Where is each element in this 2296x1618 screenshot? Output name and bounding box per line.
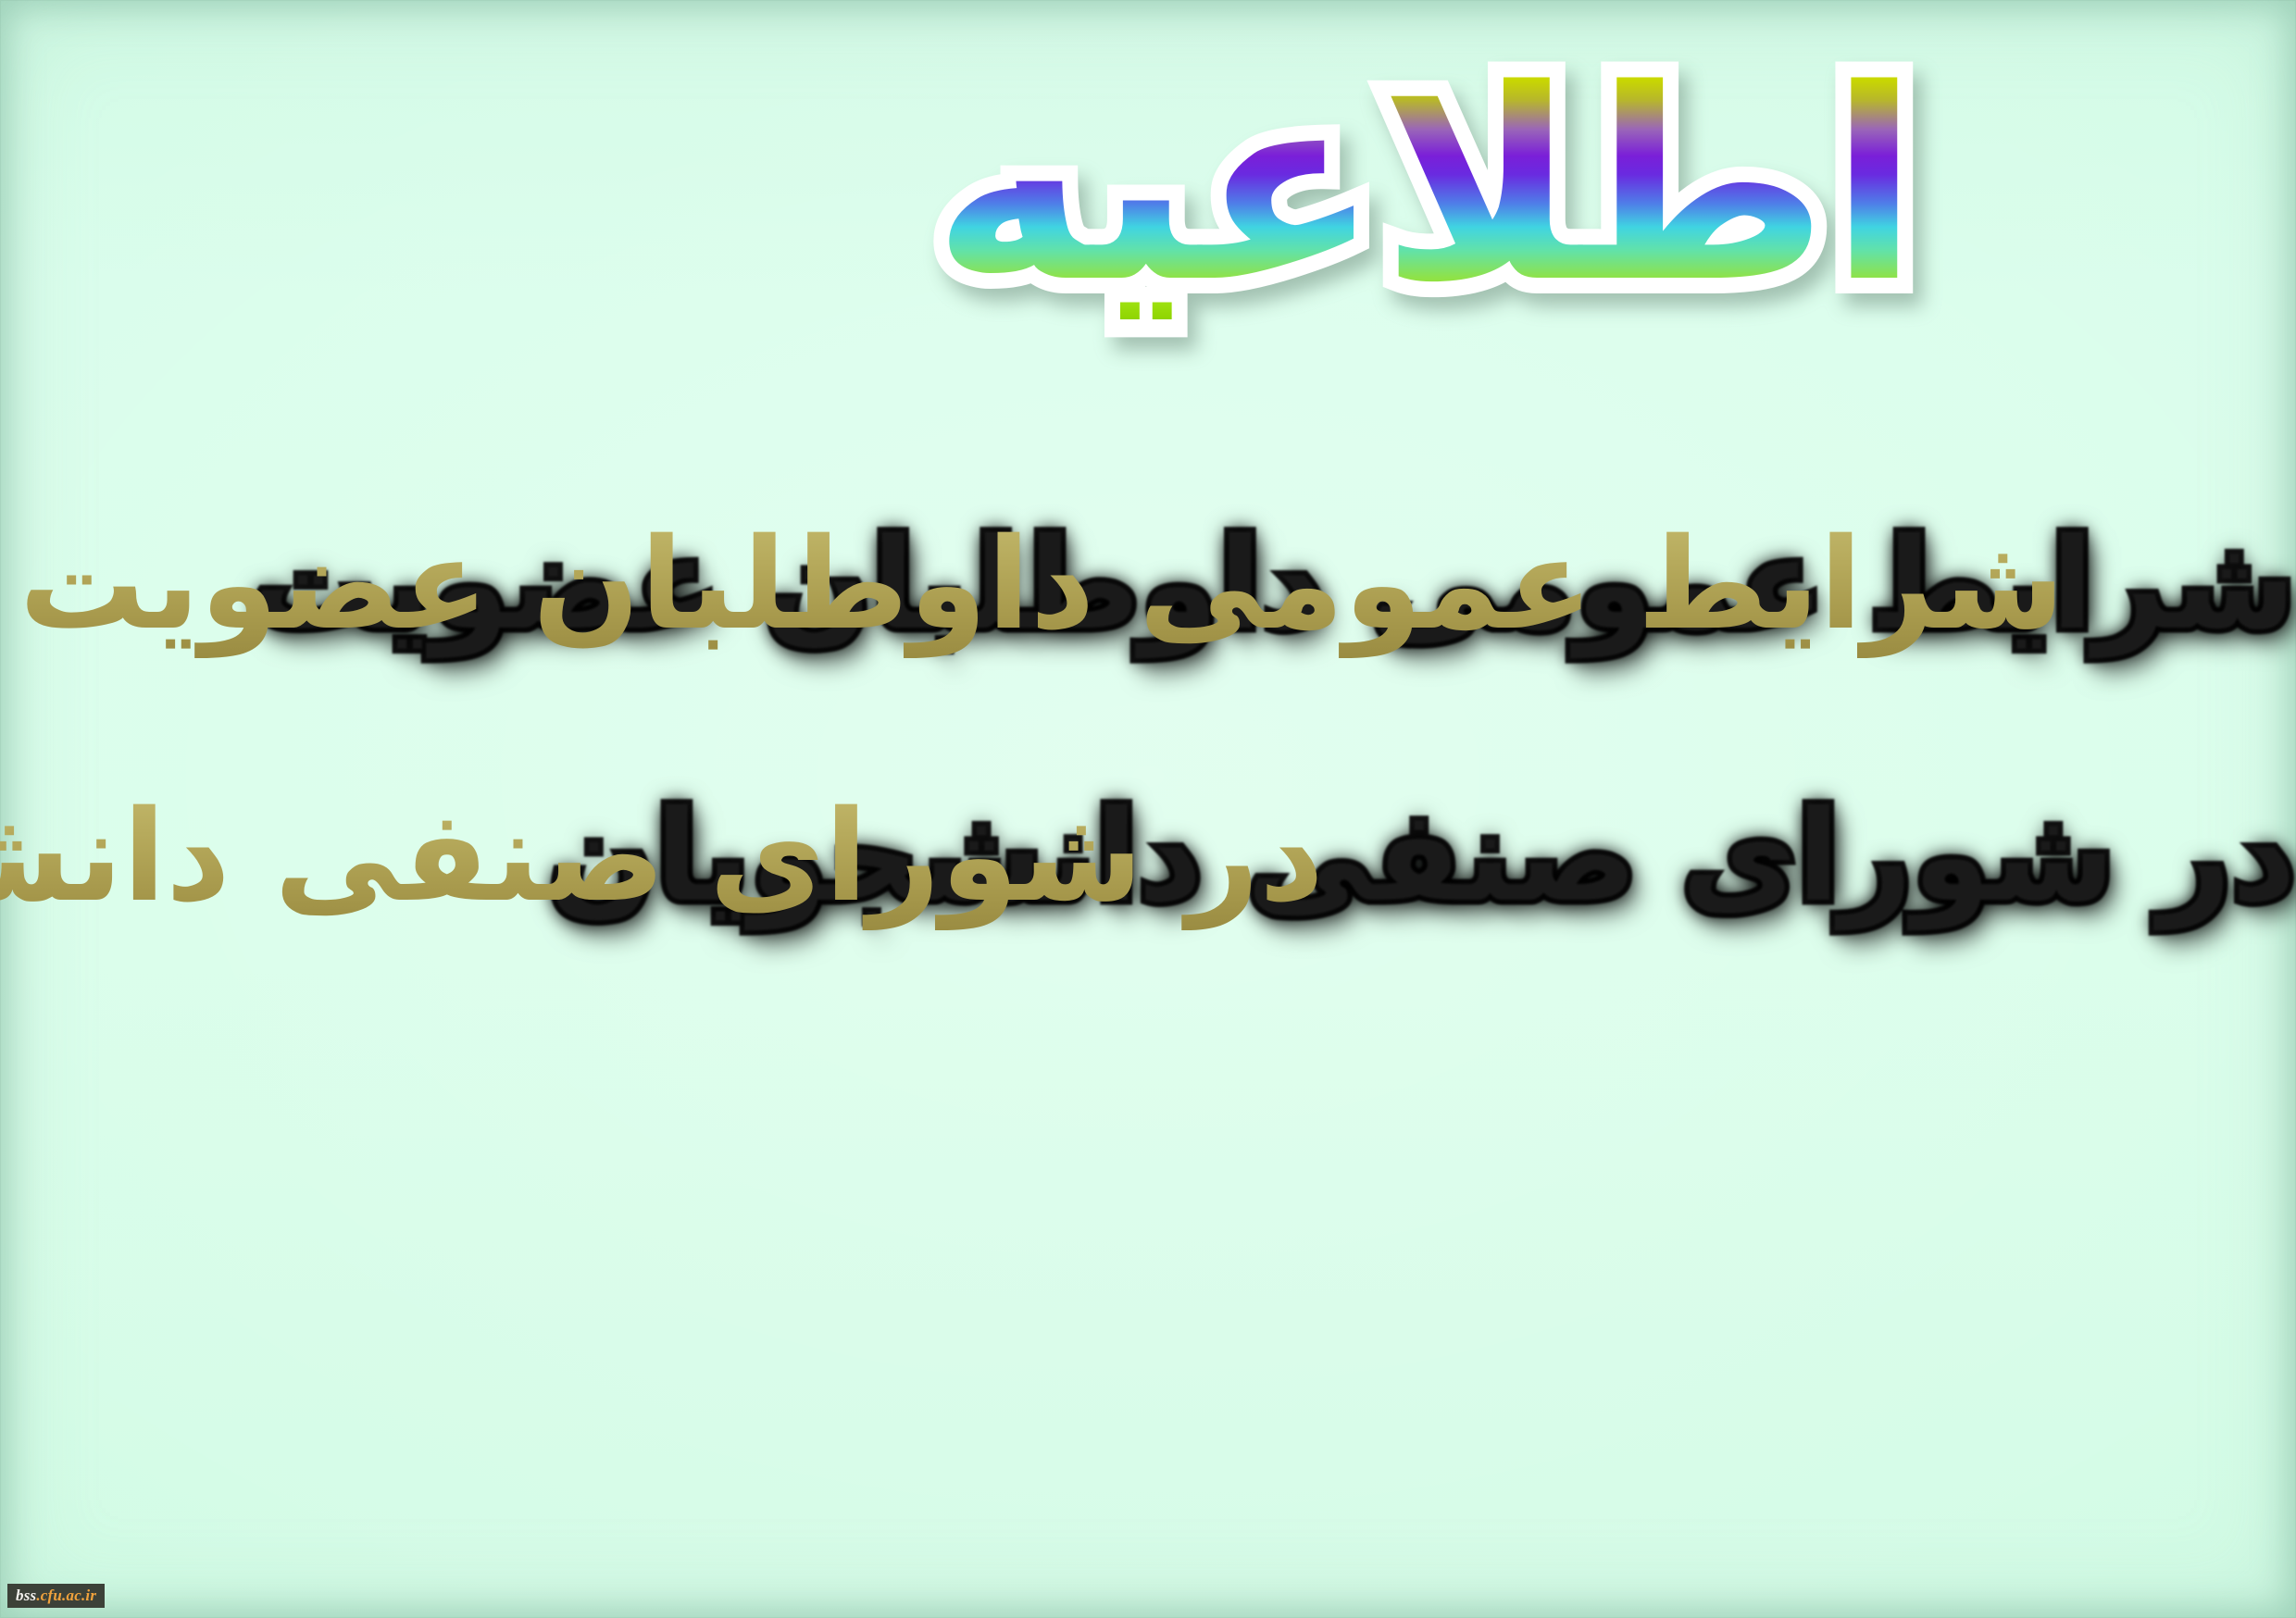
headline-container: اطلاعیه اطلاعیه xyxy=(778,56,2074,319)
body-line-2: در شورای صنفی دانشجویان در شورای صنفی دا… xyxy=(0,790,2296,924)
watermark-suffix: .cfu.ac.ir xyxy=(36,1587,96,1604)
headline-gradient-text: اطلاعیه xyxy=(932,56,1919,319)
site-watermark: bss.cfu.ac.ir xyxy=(7,1584,105,1608)
body-text-block: شرایط عمومی داوطلبان عضویت شرایط عمومی د… xyxy=(0,518,2296,924)
announcement-poster: اطلاعیه اطلاعیه شرایط عمومی داوطلبان عضو… xyxy=(0,0,2296,1618)
body-line-2-text: در شورای صنفی دانشجویان xyxy=(0,784,1324,930)
body-line-1: شرایط عمومی داوطلبان عضویت شرایط عمومی د… xyxy=(0,518,2296,652)
body-line-1-text: شرایط عمومی داوطلبان عضویت xyxy=(19,512,2065,658)
headline-stack: اطلاعیه اطلاعیه xyxy=(932,56,1919,319)
watermark-prefix: bss xyxy=(16,1587,36,1604)
